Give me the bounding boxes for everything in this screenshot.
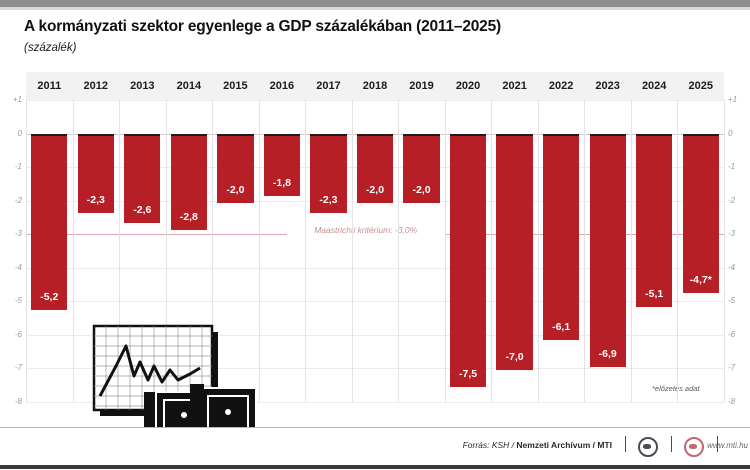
y-axis-tick-left--5: -5 [10, 297, 22, 305]
website-url: www.mti.hu [707, 441, 748, 450]
column-divider [538, 100, 539, 402]
bar-value-2023: -6,9 [590, 348, 626, 360]
y-axis-tick-left--8: -8 [10, 398, 22, 406]
year-header-2025: 2025 [677, 72, 724, 100]
year-header-2014: 2014 [166, 72, 213, 100]
bar-value-2020: -7,5 [450, 368, 486, 380]
bar-value-2016: -1,8 [264, 177, 300, 189]
y-axis-tick-right-1: +1 [728, 96, 742, 104]
column-divider [305, 100, 306, 402]
year-header-2015: 2015 [212, 72, 259, 100]
year-header-2019: 2019 [398, 72, 445, 100]
year-header-2018: 2018 [352, 72, 399, 100]
y-axis-tick-right--4: -4 [728, 264, 742, 272]
page-subtitle: (százalék) [24, 42, 76, 54]
column-divider [491, 100, 492, 402]
gridline-1 [26, 100, 724, 101]
y-axis-tick-right-0: 0 [728, 130, 742, 138]
year-header-2021: 2021 [491, 72, 538, 100]
column-divider [584, 100, 585, 402]
bar-value-2021: -7,0 [496, 351, 532, 363]
mti-logo-dark-icon [638, 437, 658, 457]
bar-2021[interactable] [496, 134, 532, 371]
bar-value-2022: -6,1 [543, 321, 579, 333]
column-divider [73, 100, 74, 402]
preliminary-data-note: *előzetes adat [652, 384, 700, 393]
year-header-2023: 2023 [584, 72, 631, 100]
footer-separator-1 [625, 436, 626, 452]
y-axis-tick-left--7: -7 [10, 364, 22, 372]
year-header-2016: 2016 [259, 72, 306, 100]
y-axis-tick-right--2: -2 [728, 197, 742, 205]
column-divider [631, 100, 632, 402]
year-header-2013: 2013 [119, 72, 166, 100]
bar-value-2013: -2,6 [124, 204, 160, 216]
column-divider [398, 100, 399, 402]
y-axis-tick-left--2: -2 [10, 197, 22, 205]
year-header-2017: 2017 [305, 72, 352, 100]
top-light-band [0, 7, 750, 10]
source-prefix: Forrás: KSH / [463, 440, 514, 450]
column-divider [445, 100, 446, 402]
year-header-2011: 2011 [26, 72, 73, 100]
bar-value-2019: -2,0 [403, 184, 439, 196]
footer-separator-2 [671, 436, 672, 452]
y-axis-tick-left--6: -6 [10, 331, 22, 339]
bar-value-2011: -5,2 [31, 291, 67, 303]
bar-value-2015: -2,0 [217, 184, 253, 196]
y-axis-tick-left--1: -1 [10, 163, 22, 171]
maastricht-label: Maastrichti kritérium: -3,0% [287, 224, 445, 236]
y-axis-tick-right--5: -5 [728, 297, 742, 305]
page-title: A kormányzati szektor egyenlege a GDP sz… [24, 18, 501, 36]
bar-2024[interactable] [636, 134, 672, 307]
y-axis-tick-right--1: -1 [728, 163, 742, 171]
column-divider [352, 100, 353, 402]
bar-value-2012: -2,3 [78, 194, 114, 206]
bar-2025[interactable] [683, 134, 719, 294]
mti-logo-red-icon [684, 437, 704, 457]
y-axis-tick-right--7: -7 [728, 364, 742, 372]
bar-value-2018: -2,0 [357, 184, 393, 196]
y-axis-tick-left-0: 0 [10, 130, 22, 138]
y-axis-tick-right--6: -6 [728, 331, 742, 339]
column-divider [677, 100, 678, 402]
source-credit: Forrás: KSH / Nemzeti Archívum / MTI [463, 440, 612, 450]
year-header-2020: 2020 [445, 72, 492, 100]
y-axis-tick-right--8: -8 [728, 398, 742, 406]
year-header-2024: 2024 [631, 72, 678, 100]
bar-2011[interactable] [31, 134, 67, 310]
footer-bottom-band [0, 465, 750, 469]
bar-value-2014: -2,8 [171, 211, 207, 223]
y-axis-tick-left--4: -4 [10, 264, 22, 272]
source-bold: Nemzeti Archívum / MTI [516, 440, 612, 450]
year-header-2022: 2022 [538, 72, 585, 100]
bar-2020[interactable] [450, 134, 486, 388]
year-header-band: 2011201220132014201520162017201820192020… [26, 72, 724, 101]
bar-value-2025: -4,7* [683, 274, 719, 286]
bar-value-2024: -5,1 [636, 288, 672, 300]
bar-2022[interactable] [543, 134, 579, 341]
column-divider [26, 100, 27, 402]
bar-2023[interactable] [590, 134, 626, 368]
y-axis-tick-right--3: -3 [728, 230, 742, 238]
column-divider [724, 100, 725, 402]
y-axis-tick-left--3: -3 [10, 230, 22, 238]
year-header-2012: 2012 [73, 72, 120, 100]
y-axis-tick-left-1: +1 [10, 96, 22, 104]
bar-value-2017: -2,3 [310, 194, 346, 206]
